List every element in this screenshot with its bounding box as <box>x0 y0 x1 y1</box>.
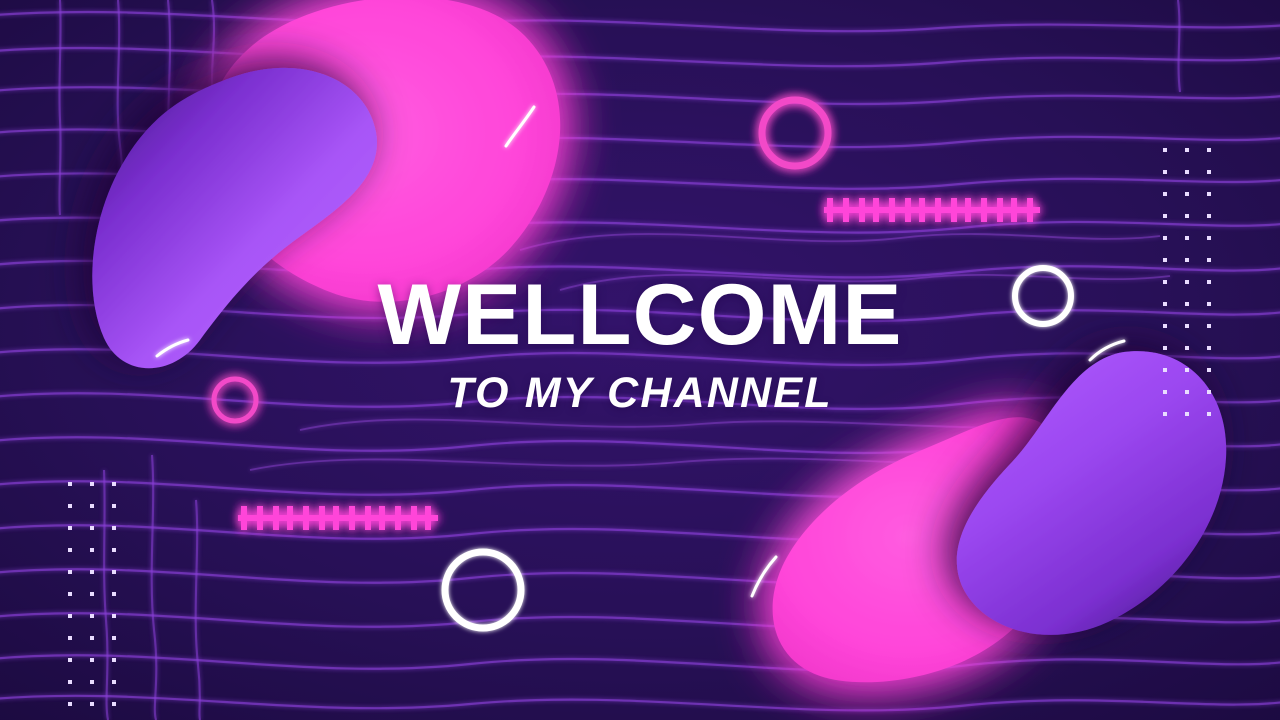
arc-accent-top-center <box>506 107 534 146</box>
ring-pink-top-right <box>762 100 828 166</box>
tally-marks-top-right <box>824 198 1040 222</box>
tally-marks-bottom-left <box>238 506 438 530</box>
ring-white-bottom <box>445 552 521 628</box>
dot-grid-left <box>68 482 116 706</box>
dot-grid-right <box>1163 148 1211 416</box>
arc-accent-left <box>157 340 188 356</box>
ring-white-right <box>1015 268 1071 324</box>
poster-canvas: WELLCOME TO MY CHANNEL <box>0 0 1280 720</box>
arc-accent-bottom <box>752 557 776 596</box>
decoration-layer <box>0 0 1280 720</box>
ring-pink-left <box>214 379 256 421</box>
arc-accent-right <box>1090 341 1124 360</box>
